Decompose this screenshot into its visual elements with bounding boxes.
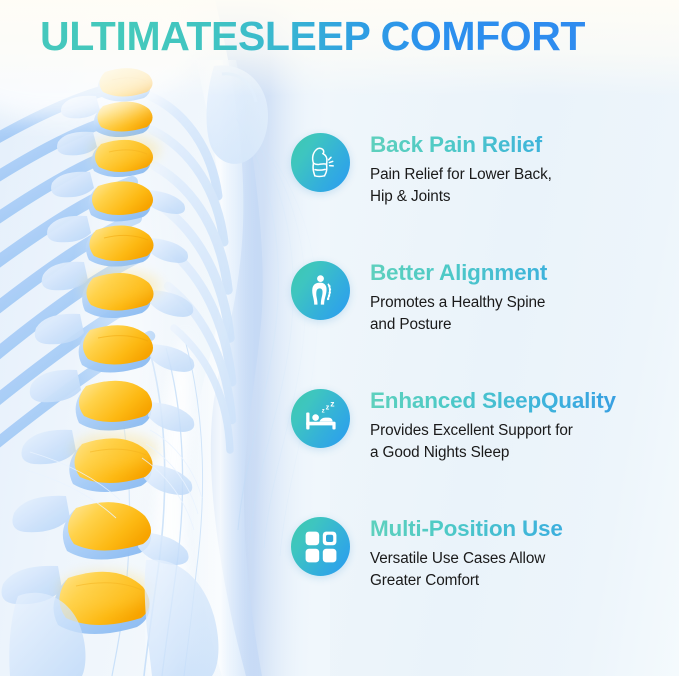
svg-text:z: z <box>321 407 324 414</box>
svg-text:z: z <box>325 402 329 411</box>
feature-description-line: Versatile Use Cases Allow <box>370 548 679 570</box>
feature-description-line: and Posture <box>370 314 679 336</box>
back-pain-person-icon <box>291 133 350 192</box>
feature-description-line: Pain Relief for Lower Back, <box>370 164 679 186</box>
standing-posture-spine-icon <box>291 261 350 320</box>
feature-title: Back Pain Relief <box>370 131 679 159</box>
feature-description-line: a Good Nights Sleep <box>370 442 679 464</box>
person-sleeping-in-bed-icon: z z z <box>291 389 350 448</box>
feature-item-back-pain-relief: Back Pain Relief Pain Relief for Lower B… <box>291 131 679 259</box>
svg-text:z: z <box>330 400 334 409</box>
feature-description: Provides Excellent Support for a Good Ni… <box>370 420 679 463</box>
feature-text-block: Enhanced SleepQuality Provides Excellent… <box>370 387 679 464</box>
feature-item-multi-position-use: Multi-Position Use Versatile Use Cases A… <box>291 515 679 643</box>
feature-item-better-alignment: Better Alignment Promotes a Healthy Spin… <box>291 259 679 387</box>
page-title: ULTIMATESLEEP COMFORT <box>40 15 585 58</box>
four-squares-grid-icon <box>291 517 350 576</box>
feature-description-line: Greater Comfort <box>370 570 679 592</box>
feature-description: Versatile Use Cases Allow Greater Comfor… <box>370 548 679 591</box>
feature-title: Enhanced SleepQuality <box>370 387 679 415</box>
feature-title: Better Alignment <box>370 259 679 287</box>
feature-list: Back Pain Relief Pain Relief for Lower B… <box>291 131 679 643</box>
feature-item-enhanced-sleep-quality: z z z Enhanced SleepQuality Provides Exc… <box>291 387 679 515</box>
product-feature-poster: ULTIMATESLEEP COMFORT <box>0 0 679 676</box>
feature-description: Pain Relief for Lower Back, Hip & Joints <box>370 164 679 207</box>
feature-description: Promotes a Healthy Spine and Posture <box>370 292 679 335</box>
feature-text-block: Back Pain Relief Pain Relief for Lower B… <box>370 131 679 208</box>
feature-description-line: Provides Excellent Support for <box>370 420 679 442</box>
feature-text-block: Multi-Position Use Versatile Use Cases A… <box>370 515 679 592</box>
spine-anatomy-illustration <box>0 0 330 676</box>
feature-description-line: Promotes a Healthy Spine <box>370 292 679 314</box>
feature-text-block: Better Alignment Promotes a Healthy Spin… <box>370 259 679 336</box>
feature-description-line: Hip & Joints <box>370 186 679 208</box>
feature-title: Multi-Position Use <box>370 515 679 543</box>
